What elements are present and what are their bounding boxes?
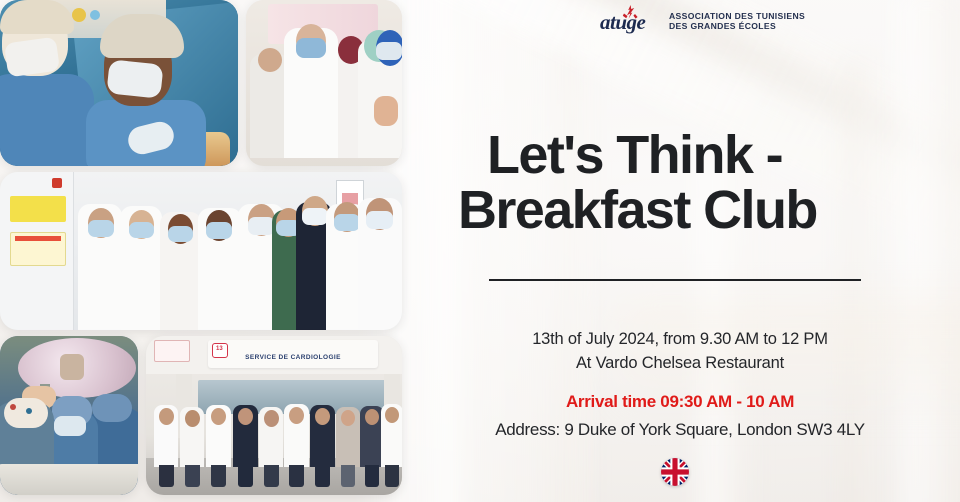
logo-text: ASSOCIATION DES TUNISIENS DES GRANDES ÉC… [669, 11, 805, 31]
arrival-time: Arrival time 09:30 AM - 10 AM [430, 392, 930, 412]
photo-surgery-operating-table [0, 0, 238, 166]
event-details: 13th of July 2024, from 9.30 AM to 12 PM… [430, 328, 930, 376]
photo-collage: SERVICE DE CARDIOLOGIE [0, 0, 402, 502]
event-venue: At Vardo Chelsea Restaurant [430, 352, 930, 376]
event-address: Address: 9 Duke of York Square, London S… [420, 420, 940, 440]
logo-line-1: ASSOCIATION DES TUNISIENS [669, 11, 805, 21]
logo-mark: atuge [600, 8, 660, 34]
title-divider [489, 279, 861, 281]
photo-hospital-team-group [0, 172, 402, 330]
logo-line-2: DES GRANDES ÉCOLES [669, 21, 805, 31]
title-line-1: Let's Think - [487, 128, 917, 183]
photo-medical-staff-white-coats [246, 0, 402, 166]
uk-flag-icon [661, 458, 689, 486]
atuge-logo: atuge ASSOCIATION DES TUNISIENS DES GRAN… [600, 8, 805, 34]
photo-operating-theatre-lamp [0, 336, 138, 495]
page-title: Let's Think - Breakfast Club [487, 128, 917, 238]
cardiology-sign-text: SERVICE DE CARDIOLOGIE [210, 354, 376, 361]
event-datetime: 13th of July 2024, from 9.30 AM to 12 PM [430, 328, 930, 352]
title-line-2: Breakfast Club [458, 183, 917, 238]
event-poster: SERVICE DE CARDIOLOGIE [0, 0, 960, 502]
flame-figure-icon [622, 5, 638, 24]
photo-cardiology-entrance-group: SERVICE DE CARDIOLOGIE [146, 336, 402, 495]
